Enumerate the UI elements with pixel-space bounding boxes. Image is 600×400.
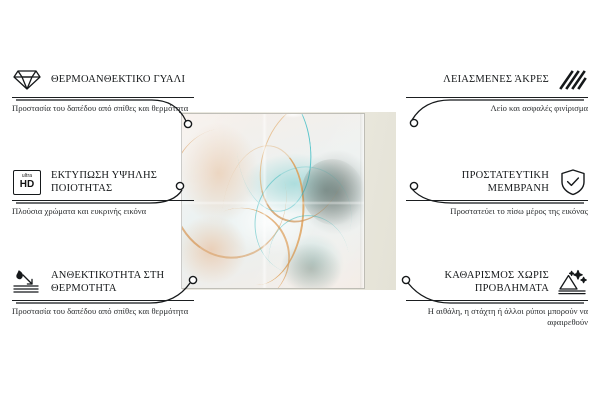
polished-edges-icon: [558, 64, 588, 94]
feature-right-1-description: Λείο και ασφαλές φινίρισμα: [406, 103, 588, 114]
feature-left-3: ΑΝΘΕΚΤΙΚΟΤΗΤΑ ΣΤΗ ΘΕΡΜΟΤΗΤΑ Προστασία το…: [12, 267, 194, 317]
feature-right-3-head: ΚΑΘΑΡΙΣΜΟΣ ΧΩΡΙΣ ΠΡΟΒΛΗΜΑΤΑ: [406, 267, 588, 297]
feature-left-3-head: ΑΝΘΕΚΤΙΚΟΤΗΤΑ ΣΤΗ ΘΕΡΜΟΤΗΤΑ: [12, 267, 194, 297]
feature-right-1: ΛΕΙΑΣΜΕΝΕΣ ΆΚΡΕΣ Λείο και ασφαλές φινίρι…: [406, 64, 588, 114]
feature-left-2-title: ΕΚΤΥΠΩΣΗ ΥΨΗΛΗΣ ΠΟΙΟΤΗΤΑΣ: [51, 169, 194, 195]
glass-edge-highlight: [360, 114, 364, 288]
feature-right-1-title: ΛΕΙΑΣΜΕΝΕΣ ΆΚΡΕΣ: [443, 73, 549, 86]
feature-right-2-rule: [406, 200, 588, 201]
product-feature-infographic: ΘΕΡΜΟΑΝΘΕΚΤΙΚΟ ΓΥΑΛΙ Προστασία του δαπέδ…: [0, 0, 600, 400]
feature-left-2-description: Πλούσια χρώματα και ευκρινής εικόνα: [12, 206, 194, 217]
feature-left-3-title: ΑΝΘΕΚΤΙΚΟΤΗΤΑ ΣΤΗ ΘΕΡΜΟΤΗΤΑ: [51, 269, 194, 295]
feature-right-2-head: ΠΡΟΣΤΑΤΕΥΤΙΚΗ ΜΕΜΒΡΑΝΗ: [406, 167, 588, 197]
glass-panel-product-image: [182, 114, 364, 288]
shield-check-icon: [558, 167, 588, 197]
feature-left-2-head: ultra HD ΕΚΤΥΠΩΣΗ ΥΨΗΛΗΣ ΠΟΙΟΤΗΤΑΣ: [12, 167, 194, 197]
feature-right-3-title: ΚΑΘΑΡΙΣΜΟΣ ΧΩΡΙΣ ΠΡΟΒΛΗΜΑΤΑ: [406, 269, 549, 295]
feature-left-2: ultra HD ΕΚΤΥΠΩΣΗ ΥΨΗΛΗΣ ΠΟΙΟΤΗΤΑΣ Πλούσ…: [12, 167, 194, 217]
flame-heat-resistance-icon: [12, 267, 42, 297]
feature-right-3: ΚΑΘΑΡΙΣΜΟΣ ΧΩΡΙΣ ΠΡΟΒΛΗΜΑΤΑ Η αιθάλη, η …: [406, 267, 588, 328]
feature-left-1-head: ΘΕΡΜΟΑΝΘΕΚΤΙΚΟ ΓΥΑΛΙ: [12, 64, 194, 94]
feature-left-2-rule: [12, 200, 194, 201]
sparkle-clean-icon: [558, 267, 588, 297]
feature-left-3-description: Προστασία του δαπέδου από σπίθες και θερ…: [12, 306, 194, 317]
feature-right-3-description: Η αιθάλη, η στάχτη ή άλλοι ρύποι μπορούν…: [406, 306, 588, 328]
feature-left-3-rule: [12, 300, 194, 301]
feature-right-1-head: ΛΕΙΑΣΜΕΝΕΣ ΆΚΡΕΣ: [406, 64, 588, 94]
feature-right-2: ΠΡΟΣΤΑΤΕΥΤΙΚΗ ΜΕΜΒΡΑΝΗ Προστατεύει το πί…: [406, 167, 588, 217]
diamond-icon: [12, 64, 42, 94]
hd-badge-hd-label: HD: [20, 180, 34, 190]
feature-left-1: ΘΕΡΜΟΑΝΘΕΚΤΙΚΟ ΓΥΑΛΙ Προστασία του δαπέδ…: [12, 64, 194, 114]
feature-right-1-rule: [406, 97, 588, 98]
feature-right-2-description: Προστατεύει το πίσω μέρος της εικόνας: [406, 206, 588, 217]
feature-right-3-rule: [406, 300, 588, 301]
glass-top-highlight: [280, 114, 306, 118]
feature-left-1-title: ΘΕΡΜΟΑΝΘΕΚΤΙΚΟ ΓΥΑΛΙ: [51, 73, 185, 86]
feature-right-2-title: ΠΡΟΣΤΑΤΕΥΤΙΚΗ ΜΕΜΒΡΑΝΗ: [406, 169, 549, 195]
connector-dot-right-1: [410, 119, 417, 126]
ultra-hd-badge-icon: ultra HD: [12, 167, 42, 197]
feature-left-1-description: Προστασία του δαπέδου από σπίθες και θερ…: [12, 103, 194, 114]
hd-badge: ultra HD: [13, 170, 41, 195]
glass-sheen-overlay: [182, 114, 364, 288]
feature-left-1-rule: [12, 97, 194, 98]
product-image-stage: [182, 112, 396, 290]
